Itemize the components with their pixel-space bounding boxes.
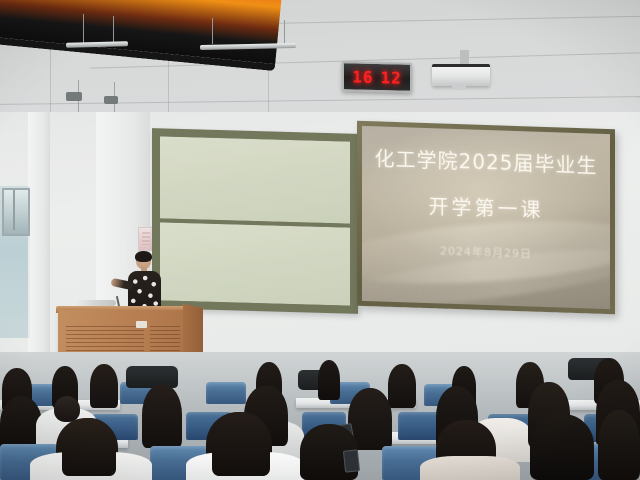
student (598, 410, 640, 480)
student (212, 412, 270, 476)
student (530, 414, 594, 480)
presenter-hair (135, 251, 152, 262)
smartphone (343, 449, 360, 472)
chair (206, 382, 246, 404)
window-mullion (13, 190, 15, 230)
lecture-hall-photo: 化工学院2025届毕业生 开学第一课 2024年8月29日 16 12 (0, 0, 640, 480)
digital-wall-clock: 16 12 (342, 61, 412, 93)
ceiling-speaker (104, 96, 118, 104)
student-head (54, 396, 80, 422)
student (318, 360, 340, 400)
presenter (125, 252, 163, 314)
screen-surface: 化工学院2025届毕业生 开学第一课 2024年8月29日 (362, 126, 610, 309)
student (62, 418, 116, 476)
projector-lens-icon (452, 83, 466, 90)
green-whiteboard (152, 128, 358, 314)
student (90, 364, 118, 408)
window-frame (2, 188, 30, 236)
clock-minutes: 12 (381, 68, 402, 88)
student (388, 364, 416, 408)
light-wire (284, 20, 285, 46)
wall-column (28, 112, 50, 362)
whiteboard-panel-bottom (158, 220, 352, 307)
projection-screen: 化工学院2025届毕业生 开学第一课 2024年8月29日 (357, 121, 615, 315)
whiteboard-panel-top (158, 134, 352, 225)
light-wire (83, 14, 84, 44)
slide-subtitle: 开学第一课 (362, 188, 610, 225)
student (420, 456, 520, 480)
slide-title: 化工学院2025届毕业生 (362, 148, 610, 177)
backpack (126, 366, 178, 388)
clock-hours: 16 (352, 67, 373, 87)
light-wire (212, 18, 213, 44)
student (142, 384, 182, 448)
ceiling-speaker (66, 92, 82, 101)
podium-label (136, 321, 147, 328)
